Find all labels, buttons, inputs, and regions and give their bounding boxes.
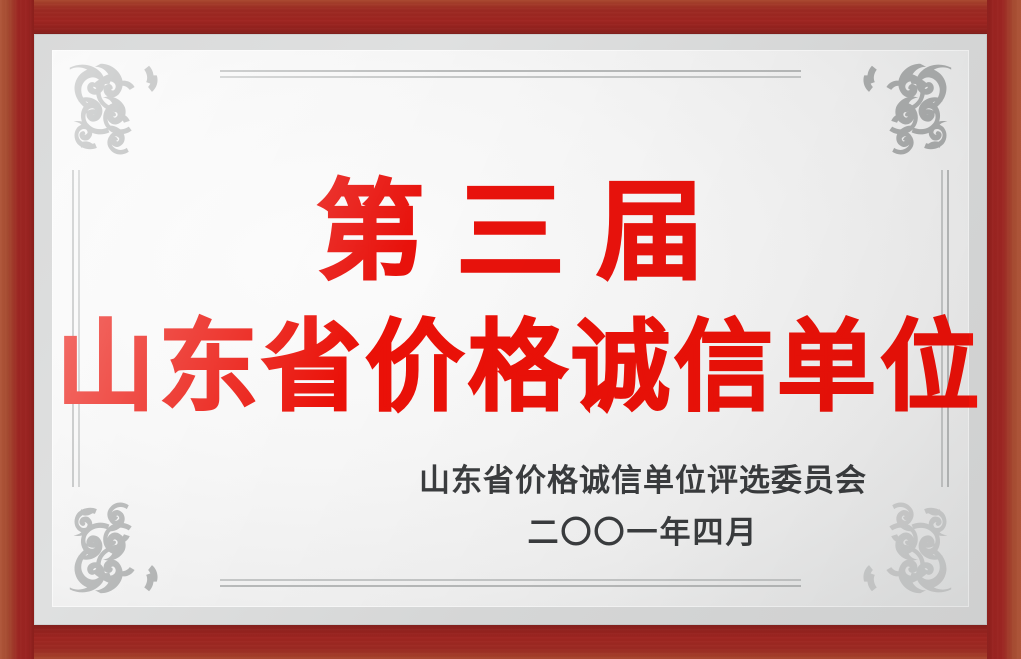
issuing-committee: 山东省价格诚信单位评选委员会 xyxy=(403,466,883,497)
frame-rail-right xyxy=(987,0,1021,659)
award-plaque: 第三届 山东省价格诚信单位 山东省价格诚信单位评选委员会 二〇〇一年四月 xyxy=(0,0,1021,659)
issue-date: 二〇〇一年四月 xyxy=(403,518,883,549)
frame-rail-bottom xyxy=(0,625,1021,659)
frame-rail-left xyxy=(0,0,34,659)
award-title-line-2: 山东省价格诚信单位 xyxy=(52,318,969,417)
plaque-face: 第三届 山东省价格诚信单位 山东省价格诚信单位评选委员会 二〇〇一年四月 xyxy=(52,50,969,607)
award-title-line-1: 第三届 xyxy=(52,178,969,286)
frame-rail-top xyxy=(0,0,1021,34)
plaque-text-block: 第三届 山东省价格诚信单位 山东省价格诚信单位评选委员会 二〇〇一年四月 xyxy=(52,50,969,607)
